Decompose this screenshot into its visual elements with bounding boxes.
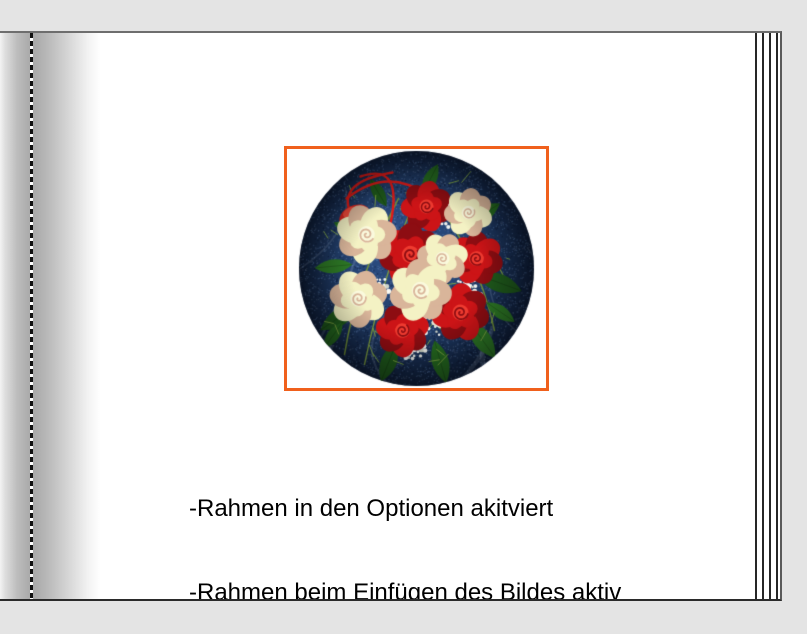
binding-line-2 — [762, 33, 764, 599]
binding-line-3 — [769, 33, 771, 599]
picture-frame[interactable] — [284, 146, 549, 391]
bouquet-photo — [288, 150, 545, 387]
slide-body-text: -Rahmen in den Optionen akitviert -Rahme… — [189, 439, 689, 601]
body-line-1: -Rahmen in den Optionen akitviert — [189, 495, 689, 523]
page-left-edge — [0, 33, 100, 599]
page-edge-gradient-inner — [0, 33, 31, 599]
page-fold-dashed-line — [30, 33, 33, 599]
slide-canvas[interactable]: -Rahmen in den Optionen akitviert -Rahme… — [0, 31, 782, 601]
body-line-2: -Rahmen beim Einfügen des Bildes aktiv — [189, 579, 689, 601]
slide-viewer: -Rahmen in den Optionen akitviert -Rahme… — [0, 0, 807, 634]
page-edge-gradient-outer — [33, 33, 100, 599]
binding-line-4 — [776, 33, 778, 599]
binding-line-1 — [755, 33, 757, 599]
page-right-binding — [750, 33, 780, 599]
